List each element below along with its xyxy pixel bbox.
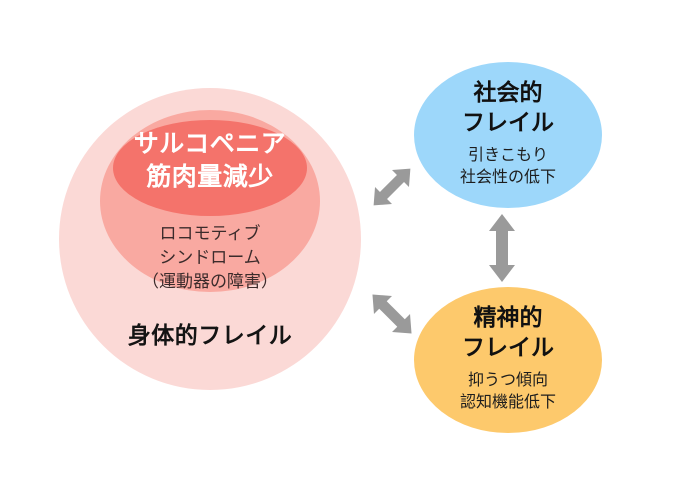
frailty-diagram: サルコペニア 筋肉量減少 ロコモティブ シンドローム （運動器の障害） 身体的フ… bbox=[0, 0, 680, 500]
social-frailty-subtitle: 引きこもり 社会性の低下 bbox=[414, 145, 602, 188]
social-frailty-title: 社会的 フレイル bbox=[414, 78, 602, 138]
mental-frailty-title: 精神的 フレイル bbox=[414, 303, 602, 363]
double-arrow-diagonal-se-icon bbox=[358, 280, 426, 353]
mental-frailty-subtitle: 抑うつ傾向 認知機能低下 bbox=[414, 370, 602, 413]
sarcopenia-label: サルコペニア 筋肉量減少 bbox=[113, 128, 307, 194]
locomotive-syndrome-label: ロコモティブ シンドローム （運動器の障害） bbox=[105, 222, 315, 294]
double-arrow-diagonal-ne-icon bbox=[360, 155, 424, 224]
physical-frailty-label: 身体的フレイル bbox=[75, 316, 345, 350]
double-arrow-vertical-icon bbox=[486, 212, 518, 289]
